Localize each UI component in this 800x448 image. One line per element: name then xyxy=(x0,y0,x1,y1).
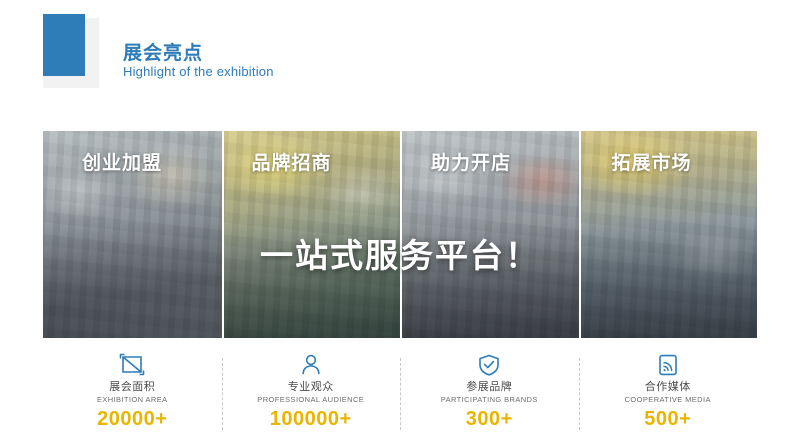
stat-label-en: PROFESSIONAL AUDIENCE xyxy=(222,394,401,406)
highlight-photo-strip: 创业加盟 品牌招商 助力开店 拓展市场 一站式服务平台！ xyxy=(43,131,757,338)
shield-check-icon xyxy=(400,352,579,378)
stat-value: 300+ xyxy=(400,407,579,431)
stat-value: 20000+ xyxy=(43,407,222,431)
page-subtitle: Highlight of the exhibition xyxy=(123,64,274,79)
stat-label-cn: 专业观众 xyxy=(222,380,401,394)
media-broadcast-icon xyxy=(579,352,758,378)
stat-label-cn: 参展品牌 xyxy=(400,380,579,394)
stat-label-cn: 展会面积 xyxy=(43,380,222,394)
stat-value: 500+ xyxy=(579,407,758,431)
stat-value: 100000+ xyxy=(222,407,401,431)
person-icon xyxy=(222,352,401,378)
stat-participating-brands: 参展品牌 PARTICIPATING BRANDS 300+ xyxy=(400,352,579,440)
page-title: 展会亮点 xyxy=(123,38,203,65)
stat-label-en: PARTICIPATING BRANDS xyxy=(400,394,579,406)
stats-row: 展会面积 EXHIBITION AREA 20000+ 专业观众 PROFESS… xyxy=(43,352,757,440)
photo-pane-label: 创业加盟 xyxy=(82,148,162,175)
page-header: 展会亮点 Highlight of the exhibition xyxy=(0,0,800,110)
stat-cooperative-media: 合作媒体 COOPERATIVE MEDIA 500+ xyxy=(579,352,758,440)
strip-headline: 一站式服务平台！ xyxy=(43,229,757,277)
area-frame-icon xyxy=(43,352,222,378)
stat-label-en: EXHIBITION AREA xyxy=(43,394,222,406)
stat-label-cn: 合作媒体 xyxy=(579,380,758,394)
stat-professional-audience: 专业观众 PROFESSIONAL AUDIENCE 100000+ xyxy=(222,352,401,440)
photo-pane-label: 助力开店 xyxy=(431,148,511,175)
stat-label-en: COOPERATIVE MEDIA xyxy=(579,394,758,406)
stat-exhibition-area: 展会面积 EXHIBITION AREA 20000+ xyxy=(43,352,222,440)
photo-pane-label: 拓展市场 xyxy=(612,148,692,175)
photo-pane-label: 品牌招商 xyxy=(252,148,332,175)
header-accent-bar xyxy=(43,14,85,76)
